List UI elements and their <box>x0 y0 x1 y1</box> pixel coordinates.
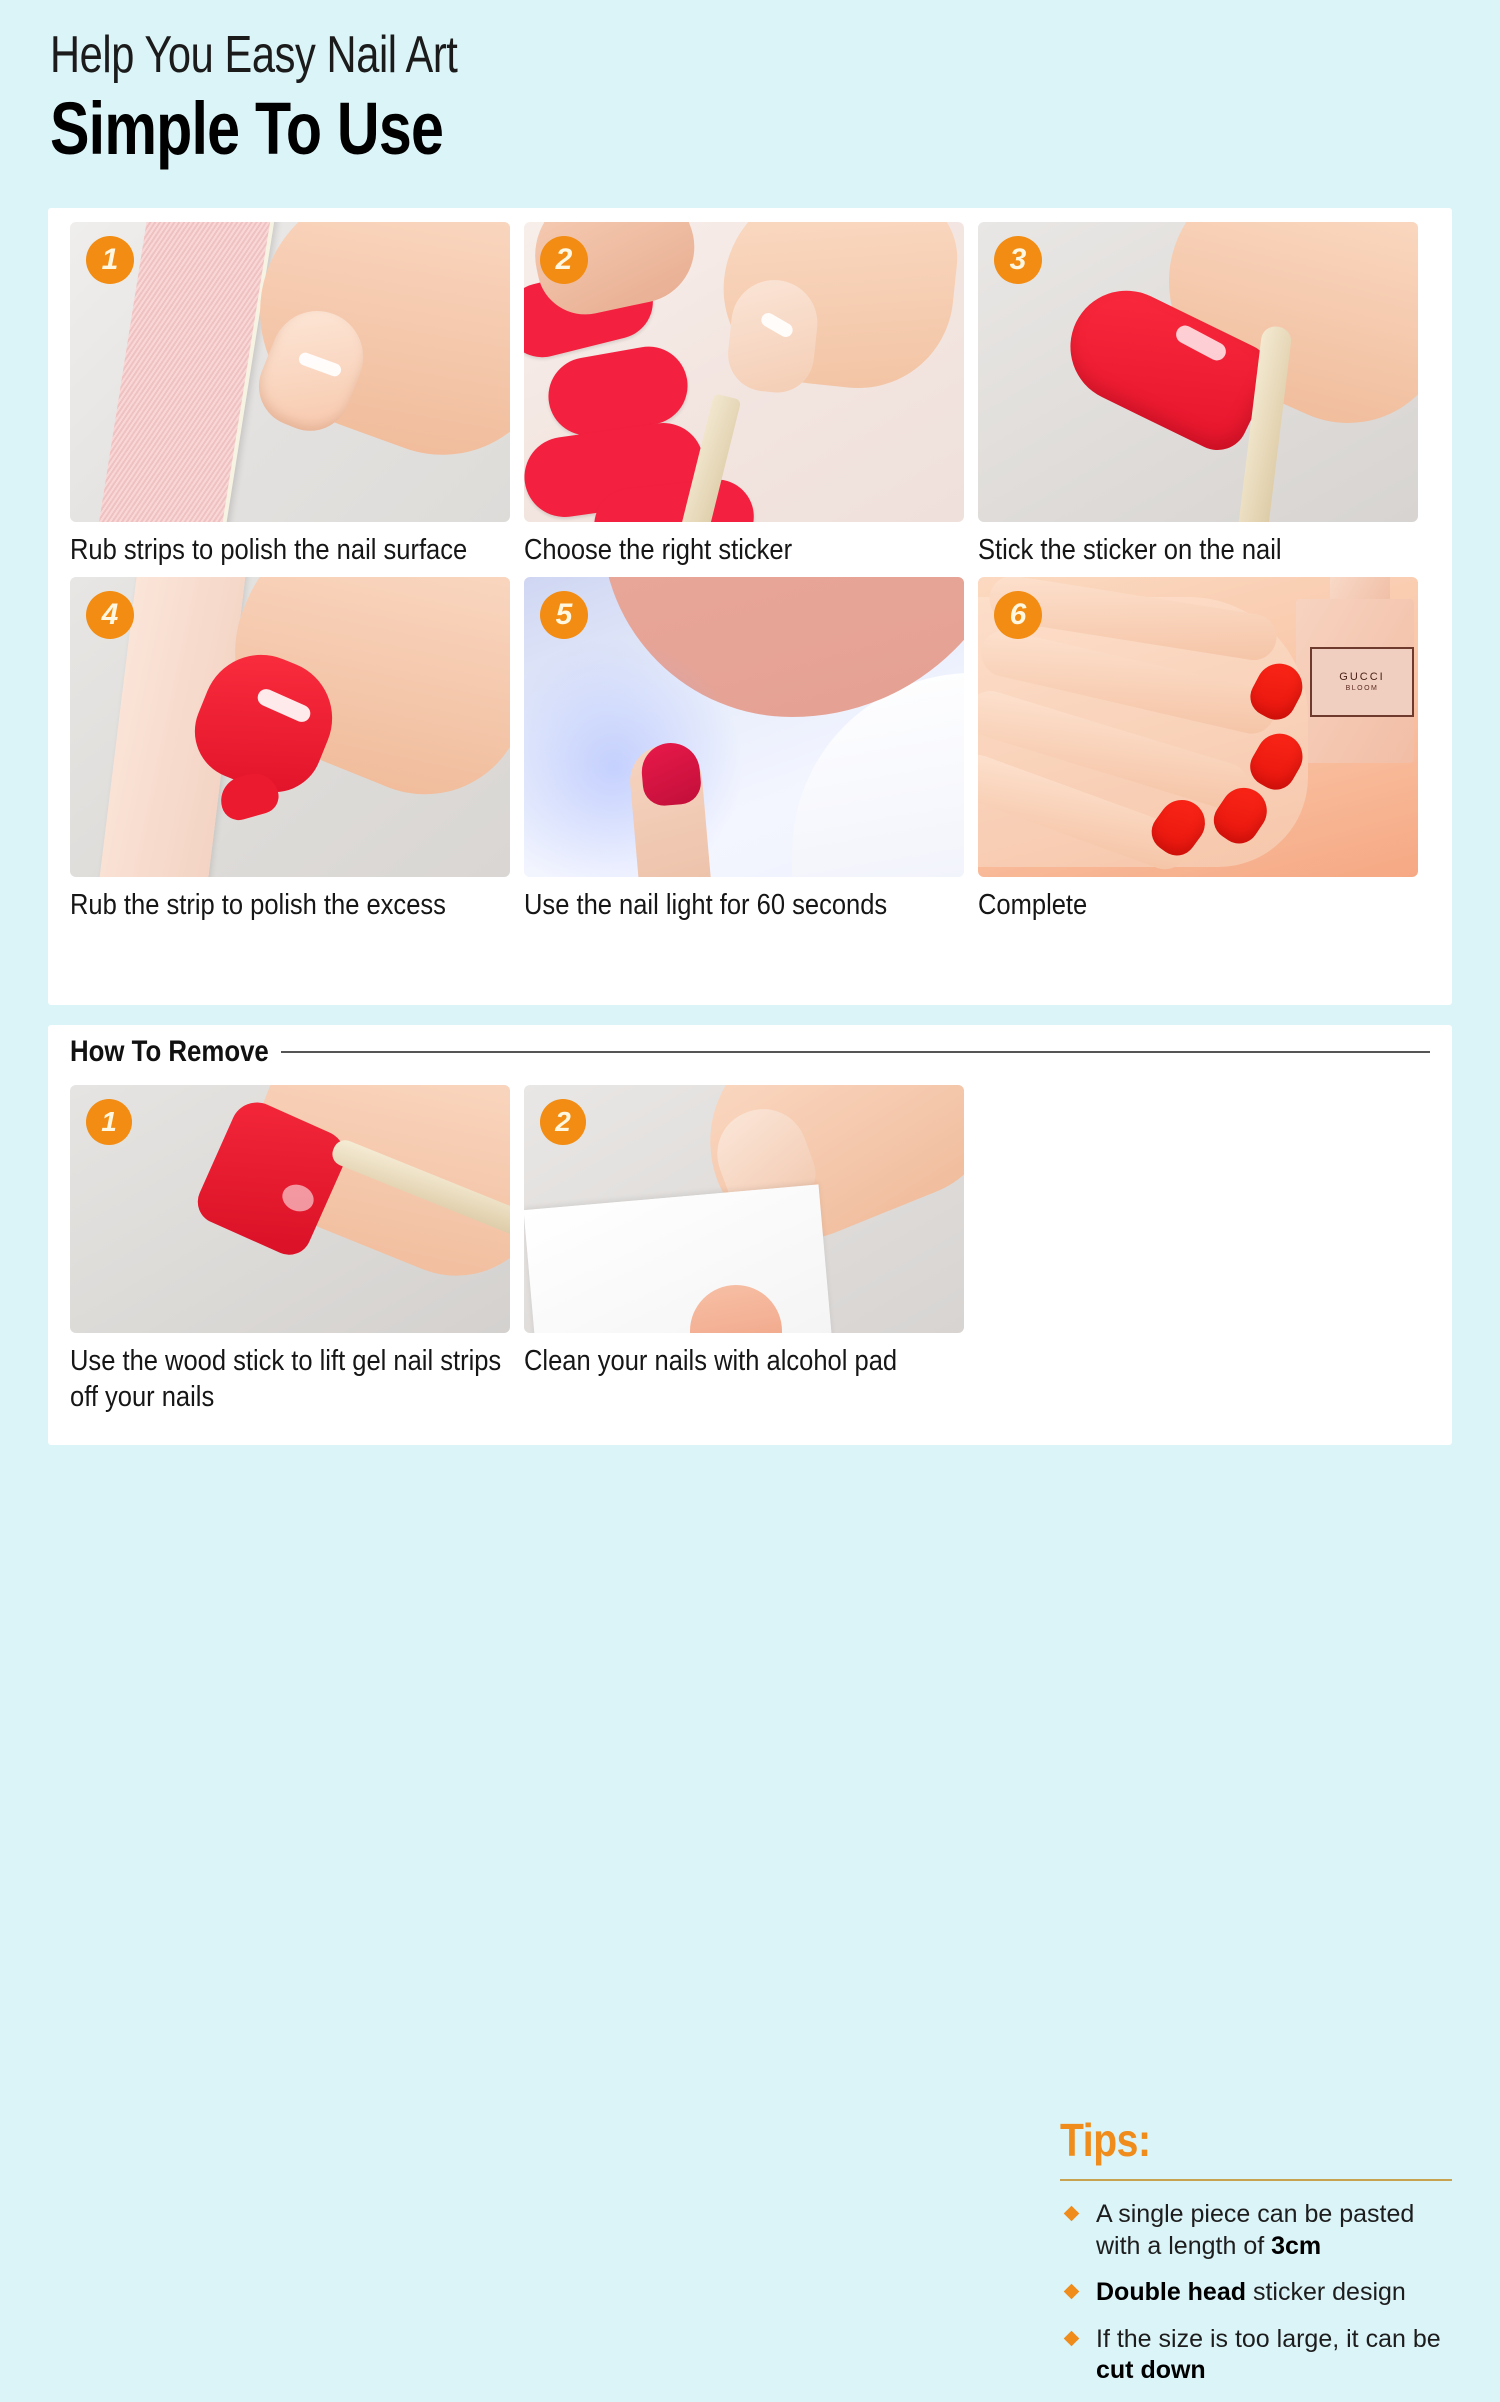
tips-list: A single piece can be pasted with a leng… <box>1060 2199 1460 2387</box>
uv-glow-shape <box>524 637 744 877</box>
step-item: 60s 30s 5 Use the nail light for 60 seco… <box>524 577 978 924</box>
finished-manicure-illustration: GUCCI BLOOM <box>978 577 1418 877</box>
nail-buffer-illustration <box>70 222 510 522</box>
infographic-page: Help You Easy Nail Art Simple To Use 1 R… <box>0 0 1500 1500</box>
step-item: 4 Rub the strip to polish the excess <box>70 577 524 924</box>
tip-text-bold: 3cm <box>1271 2232 1321 2260</box>
step-badge-4: 4 <box>86 591 134 639</box>
perfume-label: GUCCI BLOOM <box>1310 647 1414 717</box>
step-1-photo: 1 <box>70 222 510 522</box>
step-item: GUCCI BLOOM 6 Comp <box>978 577 1432 924</box>
step-badge-6: 6 <box>994 591 1042 639</box>
diamond-bullet-icon <box>1064 2284 1080 2300</box>
remove-item: 1 Use the wood stick to lift gel nail st… <box>70 1085 524 1416</box>
header-kicker: Help You Easy Nail Art <box>50 26 1010 84</box>
step-badge-5: 5 <box>540 591 588 639</box>
step-2-photo: 2 <box>524 222 964 522</box>
polish-excess-illustration <box>70 577 510 877</box>
remove-heading-row: How To Remove <box>70 1035 1430 1069</box>
lift-strip-illustration <box>70 1085 510 1333</box>
step-badge-2: 2 <box>540 236 588 284</box>
tips-list-item: If the size is too large, it can be cut … <box>1060 2324 1460 2387</box>
page-title: Simple To Use <box>50 88 1010 171</box>
remove-1-caption: Use the wood stick to lift gel nail stri… <box>70 1344 521 1416</box>
step-5-caption: Use the nail light for 60 seconds <box>524 888 975 924</box>
step-4-photo: 4 <box>70 577 510 877</box>
step-badge-1: 1 <box>86 236 134 284</box>
remove-heading-rule <box>281 1051 1430 1053</box>
remove-heading-label: How To Remove <box>70 1035 269 1069</box>
step-3-caption: Stick the sticker on the nail <box>978 533 1429 569</box>
remove-2-photo: 2 <box>524 1085 964 1333</box>
tip-text-post: sticker design <box>1246 2278 1406 2306</box>
perfume-brand-text: GUCCI <box>1339 671 1384 683</box>
step-5-photo: 60s 30s 5 <box>524 577 964 877</box>
uv-lamp-illustration: 60s 30s <box>524 577 964 877</box>
diamond-bullet-icon <box>1064 2330 1080 2346</box>
remove-1-photo: 1 <box>70 1085 510 1333</box>
tip-text-pre: A single piece can be pasted with a leng… <box>1096 2200 1414 2260</box>
steps-card: 1 Rub strips to polish the nail surface <box>48 208 1452 1005</box>
tips-list-item: A single piece can be pasted with a leng… <box>1060 2199 1460 2262</box>
tip-text-bold: Double head <box>1096 2278 1246 2306</box>
alcohol-pad-shape <box>524 1184 832 1333</box>
step-item: 1 Rub strips to polish the nail surface <box>70 222 524 569</box>
step-6-caption: Complete <box>978 888 1429 924</box>
tips-section: Tips: A single piece can be pasted with … <box>1060 2117 1460 2402</box>
step-item: 2 Choose the right sticker <box>524 222 978 569</box>
steps-grid: 1 Rub strips to polish the nail surface <box>70 222 1432 924</box>
diamond-bullet-icon <box>1064 2206 1080 2222</box>
step-item: 3 Stick the sticker on the nail <box>978 222 1432 569</box>
tip-text-bold: cut down <box>1096 2356 1206 2384</box>
remove-card: How To Remove 1 Use the wood stick to li… <box>48 1025 1452 1445</box>
page-header: Help You Easy Nail Art Simple To Use <box>50 26 1250 171</box>
step-4-caption: Rub the strip to polish the excess <box>70 888 521 924</box>
step-6-photo: GUCCI BLOOM 6 <box>978 577 1418 877</box>
step-3-photo: 3 <box>978 222 1418 522</box>
remove-badge-1: 1 <box>86 1099 132 1145</box>
remove-badge-2: 2 <box>540 1099 586 1145</box>
step-badge-3: 3 <box>994 236 1042 284</box>
alcohol-pad-illustration <box>524 1085 964 1333</box>
apply-sticker-illustration <box>978 222 1418 522</box>
tip-text-pre: If the size is too large, it can be <box>1096 2325 1441 2353</box>
remove-item: 2 Clean your nails with alcohol pad <box>524 1085 978 1416</box>
step-2-caption: Choose the right sticker <box>524 533 975 569</box>
tips-title: Tips: <box>1060 2117 1400 2163</box>
step-1-caption: Rub strips to polish the nail surface <box>70 533 521 569</box>
sticker-sheet-illustration <box>524 222 964 522</box>
remove-grid: 1 Use the wood stick to lift gel nail st… <box>70 1085 978 1416</box>
perfume-line-text: BLOOM <box>1346 685 1379 692</box>
tips-list-item: Double head sticker design <box>1060 2277 1460 2309</box>
tips-divider <box>1060 2179 1452 2181</box>
remove-2-caption: Clean your nails with alcohol pad <box>524 1344 975 1380</box>
